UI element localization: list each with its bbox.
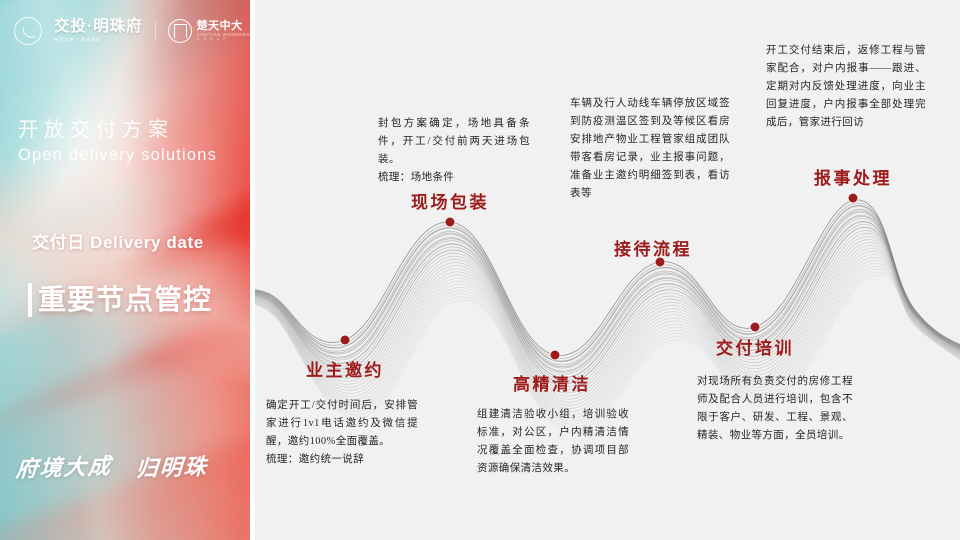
cover-heading-en: Open delivery solutions — [18, 146, 238, 165]
milestone-body-text-delivery-training: 对现场所有负责交付的房修工程师及配合人员进行培训，包含不限于客户、研发、工程、景… — [697, 373, 853, 445]
cover-title-group: 重要节点管控 — [28, 283, 248, 317]
logo-secondary-name-en-sub: G R O U P — [197, 37, 250, 41]
milestone-dot-delivery-training[interactable] — [751, 323, 760, 332]
logo-secondary-name: 楚天中大 — [197, 21, 250, 33]
milestone-title-delivery-training[interactable]: 交付培训 — [716, 340, 794, 357]
milestone-body-owner-invitation: 确定开工/交付时间后，安排管家进行1v1电话邀约及微信提醒，邀约100%全面覆盖… — [266, 397, 418, 469]
milestone-dot-site-packaging[interactable] — [446, 218, 455, 227]
logo-secondary: 楚天中大 CHUTIAN ZHONGDA G R O U P — [168, 19, 250, 43]
milestone-body-text-reception-process: 车辆及行人动线车辆停放区域签到防疫测温区签到及等候区看房安排地产物业工程管家组成… — [570, 95, 730, 203]
cover-heading-group: 开放交付方案 Open delivery solutions — [18, 118, 238, 165]
milestone-dot-issue-handling[interactable] — [849, 194, 858, 203]
milestone-title-issue-handling[interactable]: 报事处理 — [814, 170, 892, 187]
milestone-body-text-site-packaging: 封包方案确定，场地具备条件，开工/交付前两天进场包装。 — [378, 115, 530, 169]
milestone-title-site-packaging[interactable]: 现场包装 — [411, 194, 489, 211]
slide-root: 交投·明珠府 中国交建 · 明珠府邸 楚天中大 CHUTIAN ZHONGDA … — [0, 0, 960, 540]
calligraphy-group: 府境大成 归明珠 — [16, 443, 246, 489]
milestone-body-site-packaging: 封包方案确定，场地具备条件，开工/交付前两天进场包装。梳理：场地条件 — [378, 115, 530, 187]
chutian-emblem-icon — [168, 19, 192, 43]
milestone-body-note-owner-invitation: 梳理：邀约统一说辞 — [266, 451, 418, 469]
logo-secondary-text: 楚天中大 CHUTIAN ZHONGDA G R O U P — [197, 21, 250, 42]
left-cover-panel: 交投·明珠府 中国交建 · 明珠府邸 楚天中大 CHUTIAN ZHONGDA … — [0, 0, 250, 540]
title-accent-bar — [28, 283, 32, 317]
wave-strand — [255, 215, 960, 371]
cover-title: 重要节点管控 — [38, 286, 212, 314]
wave-strand — [255, 216, 960, 372]
milestone-body-text-precision-cleaning: 组建清洁验收小组，培训验收标准，对公区，户内精清洁情况覆盖全面检查，协调项目部资… — [477, 406, 629, 478]
milestone-dot-owner-invitation[interactable] — [341, 336, 350, 345]
milestone-body-note-site-packaging: 梳理：场地条件 — [378, 169, 530, 187]
wave-strand — [255, 209, 960, 365]
logo-row: 交投·明珠府 中国交建 · 明珠府邸 楚天中大 CHUTIAN ZHONGDA … — [14, 14, 238, 48]
calligraphy-phrase-1: 府境大成 — [15, 448, 114, 483]
milestone-title-owner-invitation[interactable]: 业主邀约 — [306, 362, 384, 379]
milestone-body-delivery-training: 对现场所有负责交付的房修工程师及配合人员进行培训，包含不限于客户、研发、工程、景… — [697, 373, 853, 445]
wave-strand — [255, 254, 960, 411]
logo-divider — [155, 21, 156, 41]
milestone-title-precision-cleaning[interactable]: 高精清洁 — [513, 376, 591, 393]
milestone-body-reception-process: 车辆及行人动线车辆停放区域签到防疫测温区签到及等候区看房安排地产物业工程管家组成… — [570, 95, 730, 203]
milestone-dot-precision-cleaning[interactable] — [551, 351, 560, 360]
wave-strand — [255, 227, 960, 383]
milestone-body-precision-cleaning: 组建清洁验收小组，培训验收标准，对公区，户内精清洁情况覆盖全面检查，协调项目部资… — [477, 406, 629, 478]
logo-primary-name: 交投·明珠府 — [54, 19, 143, 35]
wave-strand — [255, 251, 960, 408]
calligraphy-phrase-2: 归明珠 — [135, 449, 209, 483]
milestone-body-text-owner-invitation: 确定开工/交付时间后，安排管家进行1v1电话邀约及微信提醒，邀约100%全面覆盖… — [266, 397, 418, 451]
wave-strand — [255, 224, 960, 380]
milestone-title-reception-process[interactable]: 接待流程 — [614, 241, 692, 258]
cover-subtitle: 交付日 Delivery date — [32, 228, 248, 253]
logo-primary: 交投·明珠府 中国交建 · 明珠府邸 — [54, 19, 143, 44]
milestone-body-issue-handling: 开工交付结束后，返修工程与管家配合，对户内报事——跟进、定期对内反馈处理进度，向… — [766, 42, 926, 132]
jiaotou-emblem-icon — [14, 17, 42, 45]
content-area: 业主邀约确定开工/交付时间后，安排管家进行1v1电话邀约及微信提醒，邀约100%… — [255, 0, 960, 540]
cover-heading-cn: 开放交付方案 — [18, 118, 238, 142]
logo-primary-tagline: 中国交建 · 明珠府邸 — [54, 37, 143, 43]
wave-strand — [255, 212, 960, 368]
milestone-body-text-issue-handling: 开工交付结束后，返修工程与管家配合，对户内报事——跟进、定期对内反馈处理进度，向… — [766, 42, 926, 132]
